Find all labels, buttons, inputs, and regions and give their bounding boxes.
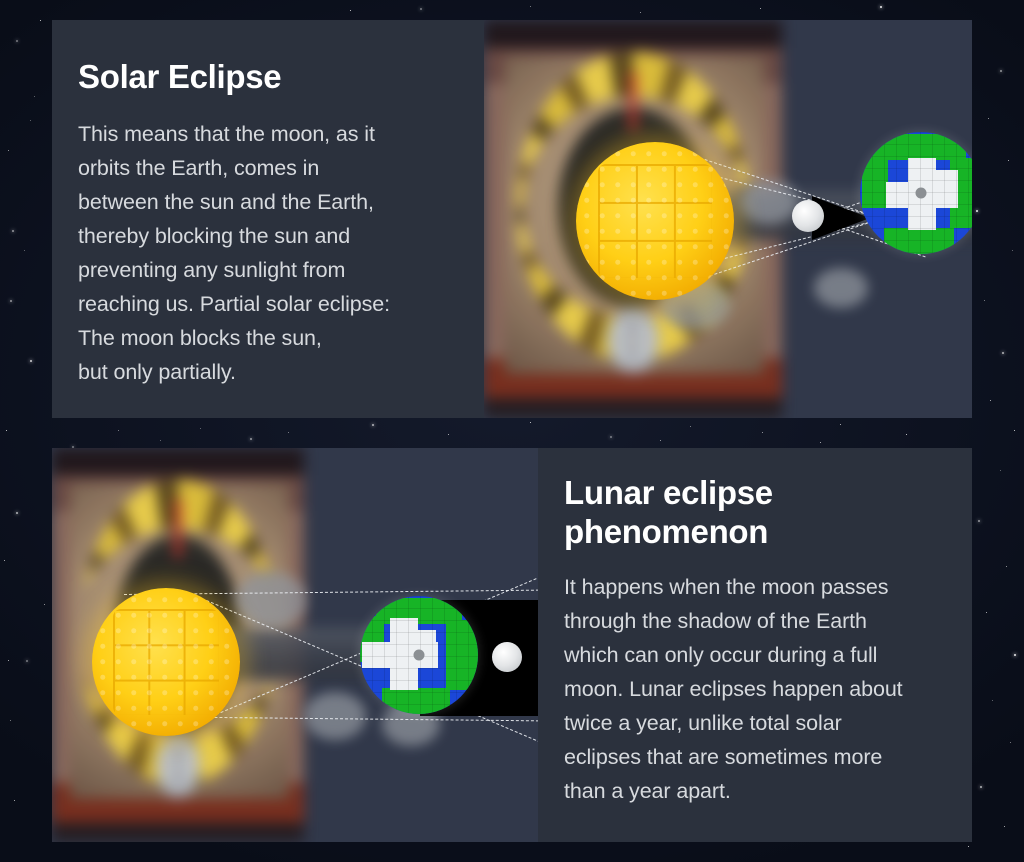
star (880, 6, 882, 8)
sun-brick-studs (576, 142, 734, 300)
earth-axis-hub (916, 188, 927, 199)
star (530, 6, 531, 7)
star (988, 118, 989, 119)
sun-body-2 (92, 588, 240, 736)
star (372, 424, 374, 426)
moon-body-2 (492, 642, 522, 672)
lego-red-pointer-2 (175, 499, 181, 558)
earth-body-2 (360, 596, 478, 714)
lego-gear-wheel (608, 307, 659, 375)
lego-gear-wheel-2 (157, 732, 200, 799)
star (14, 800, 15, 801)
star (660, 440, 661, 441)
star (968, 846, 969, 847)
star (762, 432, 763, 433)
star (40, 20, 41, 21)
star (1000, 70, 1002, 72)
star (1006, 566, 1007, 567)
star (1014, 654, 1016, 656)
lunar-body-text: It happens when the moon passes through … (564, 570, 946, 808)
star (1004, 826, 1005, 827)
star (984, 300, 985, 301)
star (448, 434, 449, 435)
lego-rig-blur-dot-4 (236, 572, 306, 628)
star (44, 604, 45, 605)
star (118, 430, 119, 431)
star (690, 426, 691, 427)
star (24, 250, 25, 251)
lego-rig-blur-dot-2 (740, 180, 798, 224)
star (820, 442, 821, 443)
star (610, 436, 612, 438)
star (1000, 470, 1001, 471)
star (26, 660, 28, 662)
solar-eclipse-panel: Solar Eclipse This means that the moon, … (52, 20, 972, 418)
star (1002, 352, 1004, 354)
star (640, 12, 641, 13)
solar-body-text: This means that the moon, as it orbits t… (78, 117, 458, 389)
star (200, 428, 201, 429)
star (530, 422, 531, 423)
star (10, 300, 12, 302)
moon-body (792, 200, 824, 232)
star (16, 512, 18, 514)
star (906, 434, 907, 435)
solar-diagram-image (484, 20, 972, 418)
lunar-heading: Lunar eclipse phenomenon (564, 474, 946, 552)
star (420, 8, 422, 10)
star (760, 8, 761, 9)
lego-rig-blur-dot-3 (814, 268, 868, 308)
star (30, 120, 31, 121)
star (34, 96, 35, 97)
solar-heading: Solar Eclipse (78, 58, 458, 97)
star (16, 40, 18, 42)
star (12, 230, 14, 232)
star (160, 440, 161, 441)
lego-red-pointer (630, 72, 636, 132)
star (1008, 160, 1009, 161)
star (350, 10, 351, 11)
star (8, 660, 9, 661)
star (992, 700, 993, 701)
star (990, 400, 991, 401)
star (976, 210, 978, 212)
solar-text-column: Solar Eclipse This means that the moon, … (52, 20, 484, 418)
star (1012, 250, 1013, 251)
earth-axis-hub-2 (414, 650, 425, 661)
sun-body (576, 142, 734, 300)
sun-brick-studs-2 (92, 588, 240, 736)
star (10, 720, 11, 721)
star (288, 432, 289, 433)
star (30, 360, 32, 362)
star (8, 150, 9, 151)
lunar-text-column: Lunar eclipse phenomenon It happens when… (538, 448, 972, 842)
star (840, 424, 841, 425)
lunar-eclipse-panel: Lunar eclipse phenomenon It happens when… (52, 448, 972, 842)
sun-brick-lines (598, 164, 712, 278)
earth-body (860, 132, 972, 254)
star (1010, 742, 1011, 743)
star (4, 560, 5, 561)
lego-rig-blur-dot-5 (304, 692, 366, 740)
star (980, 786, 982, 788)
infographic-root: Solar Eclipse This means that the moon, … (0, 0, 1024, 862)
star (250, 438, 252, 440)
star (978, 520, 980, 522)
star (986, 612, 987, 613)
star (1014, 430, 1015, 431)
star (6, 430, 7, 431)
lunar-diagram-image (52, 448, 538, 842)
sun-brick-lines-2 (113, 609, 220, 716)
